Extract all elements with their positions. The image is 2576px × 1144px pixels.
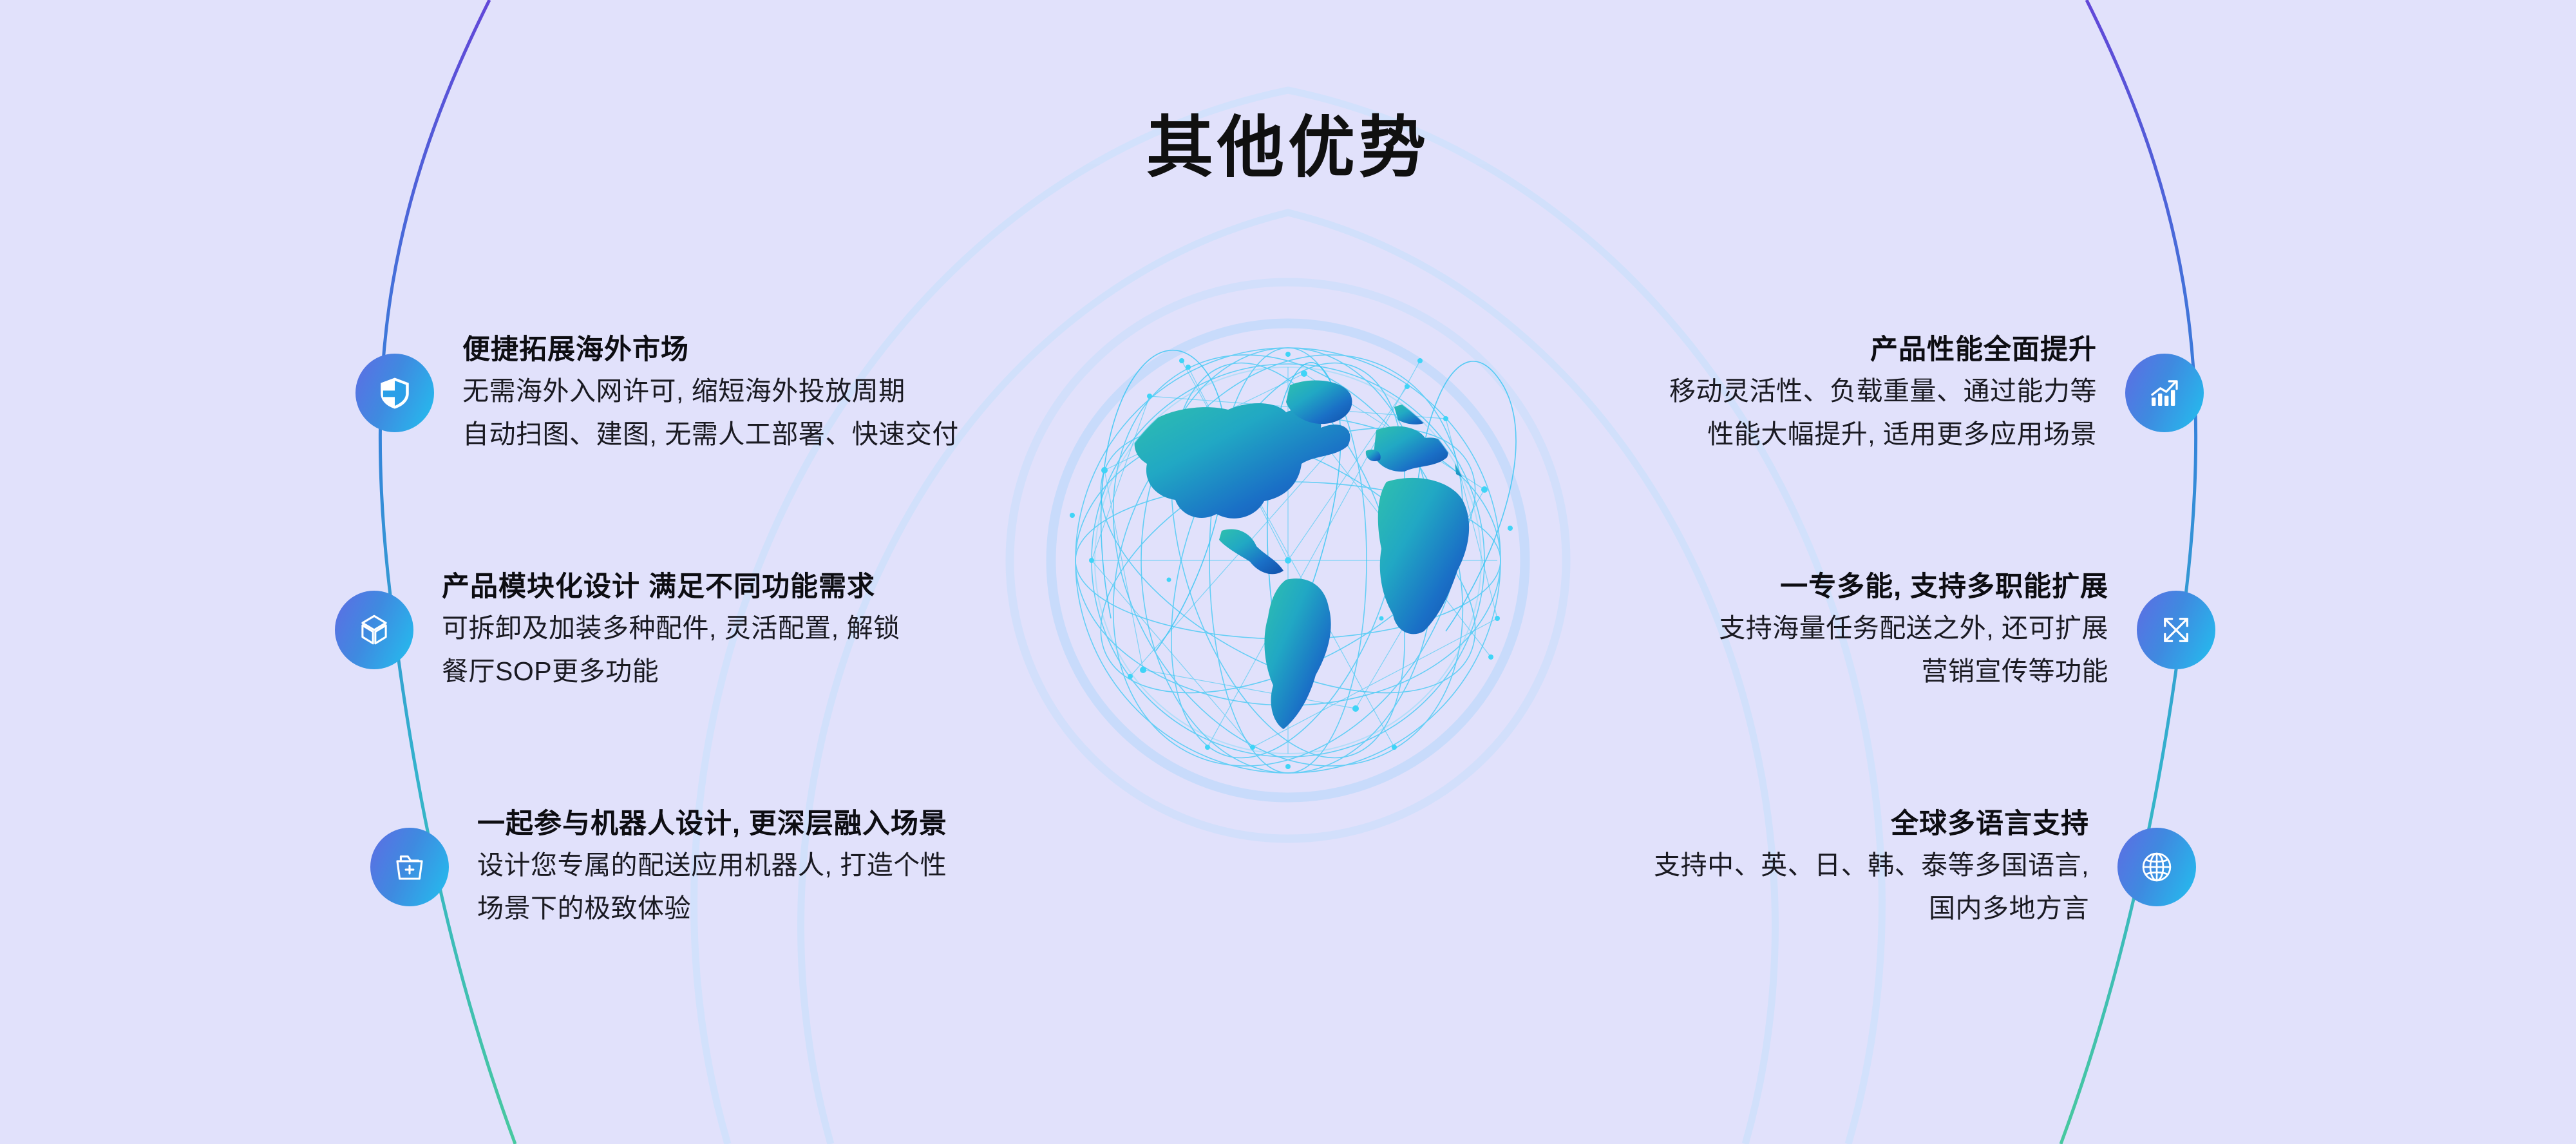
feature-text: 产品性能全面提升 移动灵活性、负载重量、通过能力等 性能大幅提升, 适用更多应用… (1669, 330, 2125, 455)
feature-item-multilanguage[interactable]: 全球多语言支持 支持中、英、日、韩、泰等多国语言, 国内多地方言 (1654, 804, 2196, 929)
feature-line: 场景下的极致体验 (477, 887, 947, 929)
expand-arrows-icon (2137, 591, 2215, 669)
feature-line: 无需海外入网许可, 缩短海外投放周期 (462, 370, 959, 412)
feature-line: 移动灵活性、负载重量、通过能力等 (1669, 370, 2097, 412)
feature-line: 自动扫图、建图, 无需人工部署、快速交付 (462, 413, 959, 455)
folder-add-icon (370, 828, 449, 906)
cube-icon (335, 591, 413, 669)
feature-text: 全球多语言支持 支持中、英、日、韩、泰等多国语言, 国内多地方言 (1654, 804, 2117, 929)
feature-item-codesign-robot[interactable]: 一起参与机器人设计, 更深层融入场景 设计您专属的配送应用机器人, 打造个性 场… (370, 804, 947, 929)
feature-line: 营销宣传等功能 (1719, 650, 2108, 692)
feature-line: 可拆卸及加装多种配件, 灵活配置, 解锁 (442, 607, 900, 649)
feature-title: 全球多语言支持 (1654, 804, 2089, 844)
feature-line: 支持海量任务配送之外, 还可扩展 (1719, 607, 2108, 649)
globe-network-illustration (995, 258, 1581, 844)
feature-item-overseas-market[interactable]: 便捷拓展海外市场 无需海外入网许可, 缩短海外投放周期 自动扫图、建图, 无需人… (355, 330, 959, 455)
feature-line: 国内多地方言 (1654, 887, 2089, 929)
feature-item-performance-upgrade[interactable]: 产品性能全面提升 移动灵活性、负载重量、通过能力等 性能大幅提升, 适用更多应用… (1669, 330, 2204, 455)
feature-text: 便捷拓展海外市场 无需海外入网许可, 缩短海外投放周期 自动扫图、建图, 无需人… (434, 330, 959, 455)
feature-text: 一专多能, 支持多职能扩展 支持海量任务配送之外, 还可扩展 营销宣传等功能 (1719, 567, 2137, 692)
growth-chart-icon (2125, 354, 2204, 432)
feature-title: 产品模块化设计 满足不同功能需求 (442, 567, 900, 607)
feature-text: 产品模块化设计 满足不同功能需求 可拆卸及加装多种配件, 灵活配置, 解锁 餐厅… (413, 567, 900, 692)
feature-line: 支持中、英、日、韩、泰等多国语言, (1654, 844, 2089, 886)
advantages-section: 其他优势 (0, 0, 2576, 1144)
feature-line: 设计您专属的配送应用机器人, 打造个性 (477, 844, 947, 886)
feature-item-multifunction-expand[interactable]: 一专多能, 支持多职能扩展 支持海量任务配送之外, 还可扩展 营销宣传等功能 (1719, 567, 2215, 692)
feature-text: 一起参与机器人设计, 更深层融入场景 设计您专属的配送应用机器人, 打造个性 场… (449, 804, 947, 929)
feature-title: 便捷拓展海外市场 (462, 330, 959, 370)
feature-title: 产品性能全面提升 (1669, 330, 2097, 370)
feature-line: 性能大幅提升, 适用更多应用场景 (1669, 413, 2097, 455)
feature-line: 餐厅SOP更多功能 (442, 650, 900, 692)
page-title: 其他优势 (0, 115, 2576, 182)
shield-icon (355, 354, 434, 432)
globe-icon (2117, 828, 2196, 906)
feature-title: 一起参与机器人设计, 更深层融入场景 (477, 804, 947, 844)
feature-item-modular-design[interactable]: 产品模块化设计 满足不同功能需求 可拆卸及加装多种配件, 灵活配置, 解锁 餐厅… (335, 567, 900, 692)
globe-continents (1135, 380, 1499, 729)
feature-title: 一专多能, 支持多职能扩展 (1719, 567, 2108, 607)
